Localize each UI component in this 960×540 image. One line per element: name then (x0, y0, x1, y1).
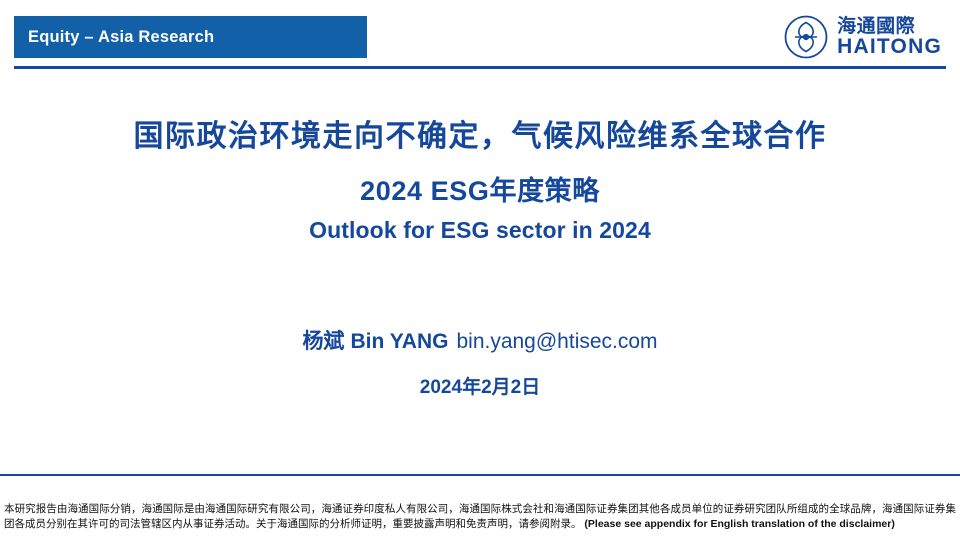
disclaimer-block: 本研究报告由海通国际分销，海通国际是由海通国际研究有限公司，海通证券印度私人有限… (4, 502, 956, 532)
header-band: Equity – Asia Research (14, 16, 367, 58)
haitong-swirl-logo-icon (784, 15, 828, 59)
author-line: 杨斌Bin YANGbin.yang@htisec.com (0, 325, 960, 355)
logo-chinese-name: 海通國際 (837, 17, 942, 36)
page-subtitle: 2024 ESG年度策略 (0, 169, 960, 208)
author-block: 杨斌Bin YANGbin.yang@htisec.com 2024年2月2日 (0, 325, 960, 399)
title-block: 国际政治环境走向不确定，气候风险维系全球合作 2024 ESG年度策略 Outl… (0, 118, 960, 244)
author-email[interactable]: bin.yang@htisec.com (456, 330, 657, 353)
page-title: 国际政治环境走向不确定，气候风险维系全球合作 (0, 118, 960, 156)
logo-wordmark: 海通國際 HAITONG (837, 17, 942, 58)
page-title-english: Outlook for ESG sector in 2024 (0, 217, 960, 244)
header-band-label: Equity – Asia Research (14, 28, 214, 47)
footer-divider (0, 474, 960, 476)
author-name-cn: 杨斌 (302, 330, 344, 353)
disclaimer-english-note: (Please see appendix for English transla… (584, 518, 894, 530)
slide-root: Equity – Asia Research 海通國際 HAITONG 国际政治… (0, 0, 960, 540)
presentation-date: 2024年2月2日 (0, 372, 960, 399)
company-logo: 海通國際 HAITONG (784, 14, 942, 60)
header-divider (14, 66, 946, 69)
logo-english-name: HAITONG (837, 36, 942, 57)
author-name-en: Bin YANG (350, 330, 448, 353)
